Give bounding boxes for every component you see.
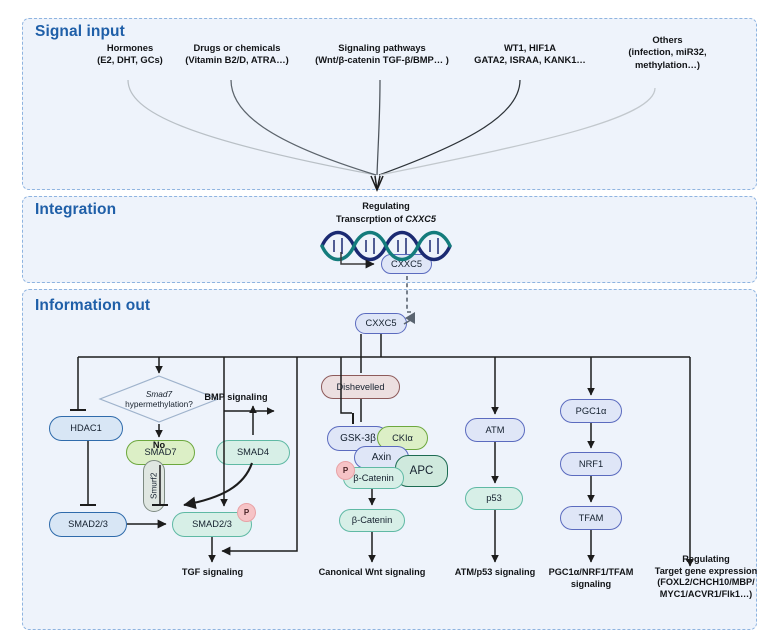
node-dishevelled[interactable]: Dishevelled bbox=[321, 375, 400, 399]
node-bcatenin-free[interactable]: β-Catenin bbox=[339, 509, 405, 532]
target-genes-line4: MYC1/ACVR1/Flk1…) bbox=[638, 589, 774, 601]
signal-input-pathways-line1: Signaling pathways bbox=[311, 42, 453, 54]
decision-question-label: hypermethylation? bbox=[125, 399, 193, 409]
signal-input-drugs-line1: Drugs or chemicals bbox=[172, 42, 302, 54]
node-smad4[interactable]: SMAD4 bbox=[216, 440, 290, 465]
signal-input-hormones-line1: Hormones bbox=[75, 42, 185, 54]
label-canonical-wnt-signaling: Canonical Wnt signaling bbox=[307, 567, 437, 579]
node-p53[interactable]: p53 bbox=[465, 487, 523, 510]
node-smurf2[interactable]: Smurf2 bbox=[143, 460, 165, 512]
target-genes-line3: (FOXL2/CHCH10/MBP/ bbox=[638, 577, 774, 589]
panel-title-signal-input: Signal input bbox=[35, 23, 125, 41]
label-bmp-signaling: BMP signaling bbox=[191, 392, 281, 404]
panel-title-information-out: Information out bbox=[35, 297, 150, 315]
signal-input-drugs-line2: (Vitamin B2/D, ATRA…) bbox=[172, 54, 302, 66]
label-pgc1a-nrf1-tfam-signaling: PGC1α/NRF1/TFAM signaling bbox=[545, 567, 637, 590]
decision-answer-no: No bbox=[146, 440, 172, 452]
integration-caption: Regulating Transcrption of CXXC5 bbox=[311, 200, 461, 225]
signal-input-pathways-line2: (Wnt/β-catenin TGF-β/BMP… ) bbox=[311, 54, 453, 66]
signal-input-others-line2: (infection, miR32, bbox=[605, 46, 730, 58]
node-pgc1a[interactable]: PGC1α bbox=[560, 399, 622, 423]
signal-input-tfs-line1: WT1, HIF1A bbox=[460, 42, 600, 54]
integration-caption-gene: CXXC5 bbox=[405, 214, 436, 224]
signal-input-others-line1: Others bbox=[605, 34, 730, 46]
signal-input-pathways: Signaling pathways (Wnt/β-catenin TGF-β/… bbox=[311, 42, 453, 67]
label-target-gene-expression: Regulating Target gene expression (FOXL2… bbox=[638, 554, 774, 600]
panel-title-integration: Integration bbox=[35, 201, 116, 219]
target-genes-line1: Regulating bbox=[638, 554, 774, 566]
decision-gene-label: Smad7 bbox=[146, 389, 172, 399]
node-cxxc5-hub[interactable]: CXXC5 bbox=[355, 313, 407, 334]
node-atm[interactable]: ATM bbox=[465, 418, 525, 442]
node-smad23-left[interactable]: SMAD2/3 bbox=[49, 512, 127, 537]
target-genes-line2: Target gene expression bbox=[638, 566, 774, 578]
signal-input-drugs: Drugs or chemicals (Vitamin B2/D, ATRA…) bbox=[172, 42, 302, 67]
phospho-badge-bcatenin: P bbox=[336, 461, 355, 480]
node-nrf1[interactable]: NRF1 bbox=[560, 452, 622, 476]
integration-caption-line2: Transcrption of CXXC5 bbox=[311, 213, 461, 226]
signal-input-hormones: Hormones (E2, DHT, GCs) bbox=[75, 42, 185, 67]
signal-input-others: Others (infection, miR32, methylation…) bbox=[605, 34, 730, 71]
signal-input-others-line3: methylation…) bbox=[605, 59, 730, 71]
diagram-canvas: Signal input Integration Information out… bbox=[0, 0, 777, 642]
node-cxxc5-integration[interactable]: CXXC5 bbox=[381, 254, 432, 274]
integration-caption-prefix: Transcrption of bbox=[336, 214, 405, 224]
signal-input-tfs: WT1, HIF1A GATA2, ISRAA, KANK1… bbox=[460, 42, 600, 67]
label-tgf-signaling: TGF signaling bbox=[165, 567, 260, 579]
integration-caption-line1: Regulating bbox=[311, 200, 461, 213]
label-pgc1a-chain-text: PGC1α/NRF1/TFAM signaling bbox=[549, 567, 634, 589]
label-atm-p53-signaling: ATM/p53 signaling bbox=[447, 567, 543, 579]
phospho-badge-smad23: P bbox=[237, 503, 256, 522]
signal-input-tfs-line2: GATA2, ISRAA, KANK1… bbox=[460, 54, 600, 66]
signal-input-hormones-line2: (E2, DHT, GCs) bbox=[75, 54, 185, 66]
node-tfam[interactable]: TFAM bbox=[560, 506, 622, 530]
